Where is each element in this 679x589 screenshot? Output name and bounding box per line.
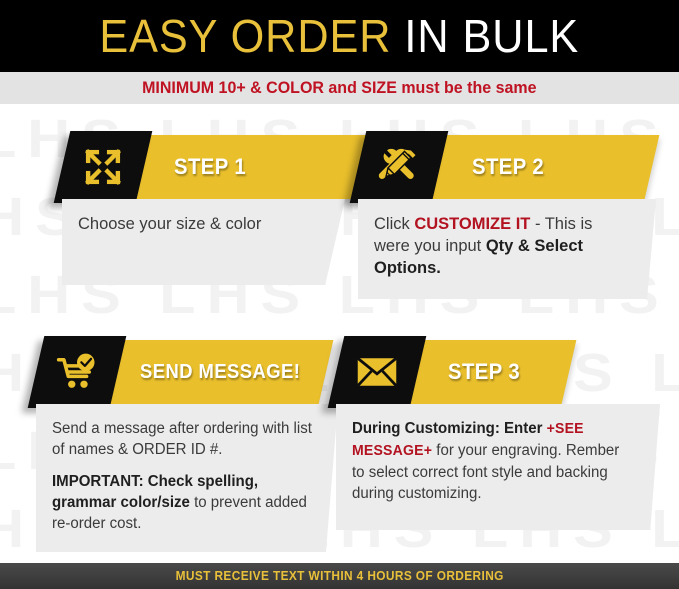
step-card-1-banner	[121, 135, 376, 199]
text-segment-highlight: CUSTOMIZE IT	[414, 214, 530, 233]
subtitle-bar: MINIMUM 10+ & COLOR and SIZE must be the…	[0, 72, 679, 104]
step-card-1-header: STEP 1	[62, 131, 347, 203]
step-card-send-message: SEND MESSAGE! Send a message after order…	[36, 336, 336, 552]
step-card-3-header: STEP 3	[336, 336, 656, 408]
page-title: EASY ORDER IN BULK	[100, 13, 580, 59]
text-segment: Click	[374, 214, 414, 233]
step-card-3-body: During Customizing: Enter +SEE MESSAGE+ …	[336, 404, 660, 530]
send-message-text-line-2: IMPORTANT: Check spelling, grammar color…	[52, 471, 312, 534]
step-card-3-text-line: During Customizing: Enter +SEE MESSAGE+ …	[352, 418, 633, 504]
step-card-2-label: STEP 2	[472, 135, 544, 199]
step-card-send-message-label: SEND MESSAGE!	[140, 340, 300, 404]
step-card-send-message-icon-plate	[28, 336, 127, 408]
step-card-1-label: STEP 1	[174, 135, 246, 199]
step-card-send-message-header: SEND MESSAGE!	[36, 336, 336, 408]
text-segment-bold: During Customizing: Enter	[352, 420, 547, 437]
text-segment: Send a message after ordering with list …	[52, 420, 312, 458]
step-card-1-body: Choose your size & color	[62, 199, 345, 285]
step-card-1-icon-plate	[54, 131, 153, 203]
step-card-2-text-line: Click CUSTOMIZE IT - This is were you in…	[374, 213, 630, 279]
step-card-2: STEP 2 Click CUSTOMIZE IT - This is were…	[358, 131, 643, 299]
infographic-canvas: LHS LHS LHS LHS LHS LHS LHS LHS LHS LHS …	[0, 0, 679, 589]
step-card-send-message-body: Send a message after ordering with list …	[36, 404, 338, 552]
header-bar: EASY ORDER IN BULK	[0, 0, 679, 72]
subtitle-text: MINIMUM 10+ & COLOR and SIZE must be the…	[142, 79, 536, 98]
step-card-3-icon-plate	[328, 336, 427, 408]
step-card-3-label: STEP 3	[448, 340, 520, 404]
step-card-3: STEP 3 During Customizing: Enter +SEE ME…	[336, 336, 656, 530]
footer-text: MUST RECEIVE TEXT WITHIN 4 HOURS OF ORDE…	[175, 569, 503, 583]
step-card-2-header: STEP 2	[358, 131, 643, 203]
step-card-2-icon-plate	[350, 131, 449, 203]
footer-bar: MUST RECEIVE TEXT WITHIN 4 HOURS OF ORDE…	[0, 563, 679, 589]
step-card-2-body: Click CUSTOMIZE IT - This is were you in…	[358, 199, 656, 299]
page-title-gold: EASY ORDER	[100, 10, 392, 62]
send-message-text-line-1: Send a message after ordering with list …	[52, 418, 312, 460]
text-segment: Choose your size & color	[78, 214, 261, 233]
page-title-white: IN BULK	[392, 10, 580, 62]
step-card-1: STEP 1 Choose your size & color	[62, 131, 347, 285]
step-card-1-text-line: Choose your size & color	[78, 213, 320, 235]
